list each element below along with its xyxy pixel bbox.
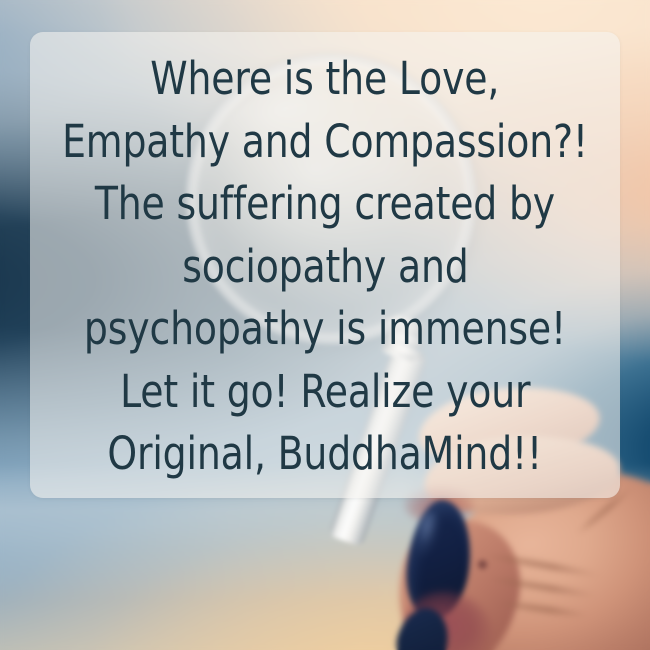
quote-line-3: The suffering created by [95, 173, 555, 236]
quote-line-1: Where is the Love, [151, 48, 500, 111]
quote-line-5: psychopathy is immense! [84, 298, 566, 361]
quote-text-block: Where is the Love, Empathy and Compassio… [30, 32, 620, 498]
quote-line-2: Empathy and Compassion?! [62, 111, 588, 174]
quote-line-6: Let it go! Realize your [120, 361, 530, 424]
quote-image-canvas: Where is the Love, Empathy and Compassio… [0, 0, 650, 650]
quote-line-7: Original, BuddhaMind!! [108, 423, 543, 486]
quote-line-4: sociopathy and [182, 236, 468, 299]
